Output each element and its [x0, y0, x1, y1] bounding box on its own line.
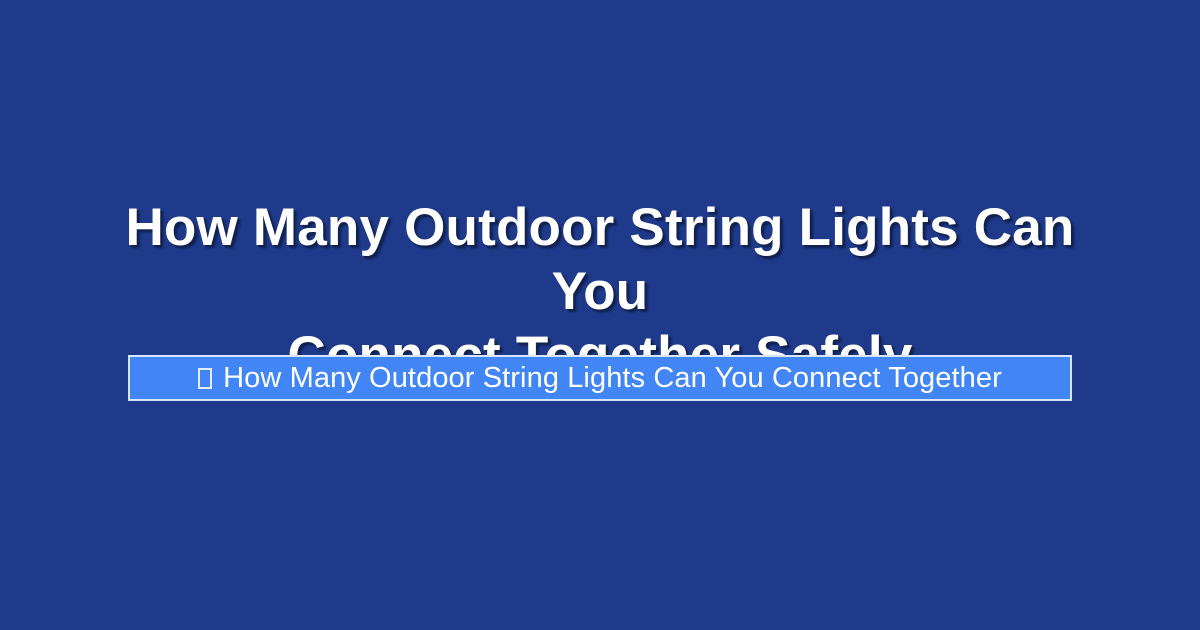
cta-banner-label: How Many Outdoor String Lights Can You C…	[223, 362, 1002, 394]
missing-glyph-box-icon	[198, 368, 212, 389]
cta-content: How Many Outdoor String Lights Can You C…	[198, 362, 1002, 394]
social-share-card: How Many Outdoor String Lights Can You C…	[0, 0, 1200, 630]
cta-banner-button[interactable]: How Many Outdoor String Lights Can You C…	[128, 355, 1072, 401]
